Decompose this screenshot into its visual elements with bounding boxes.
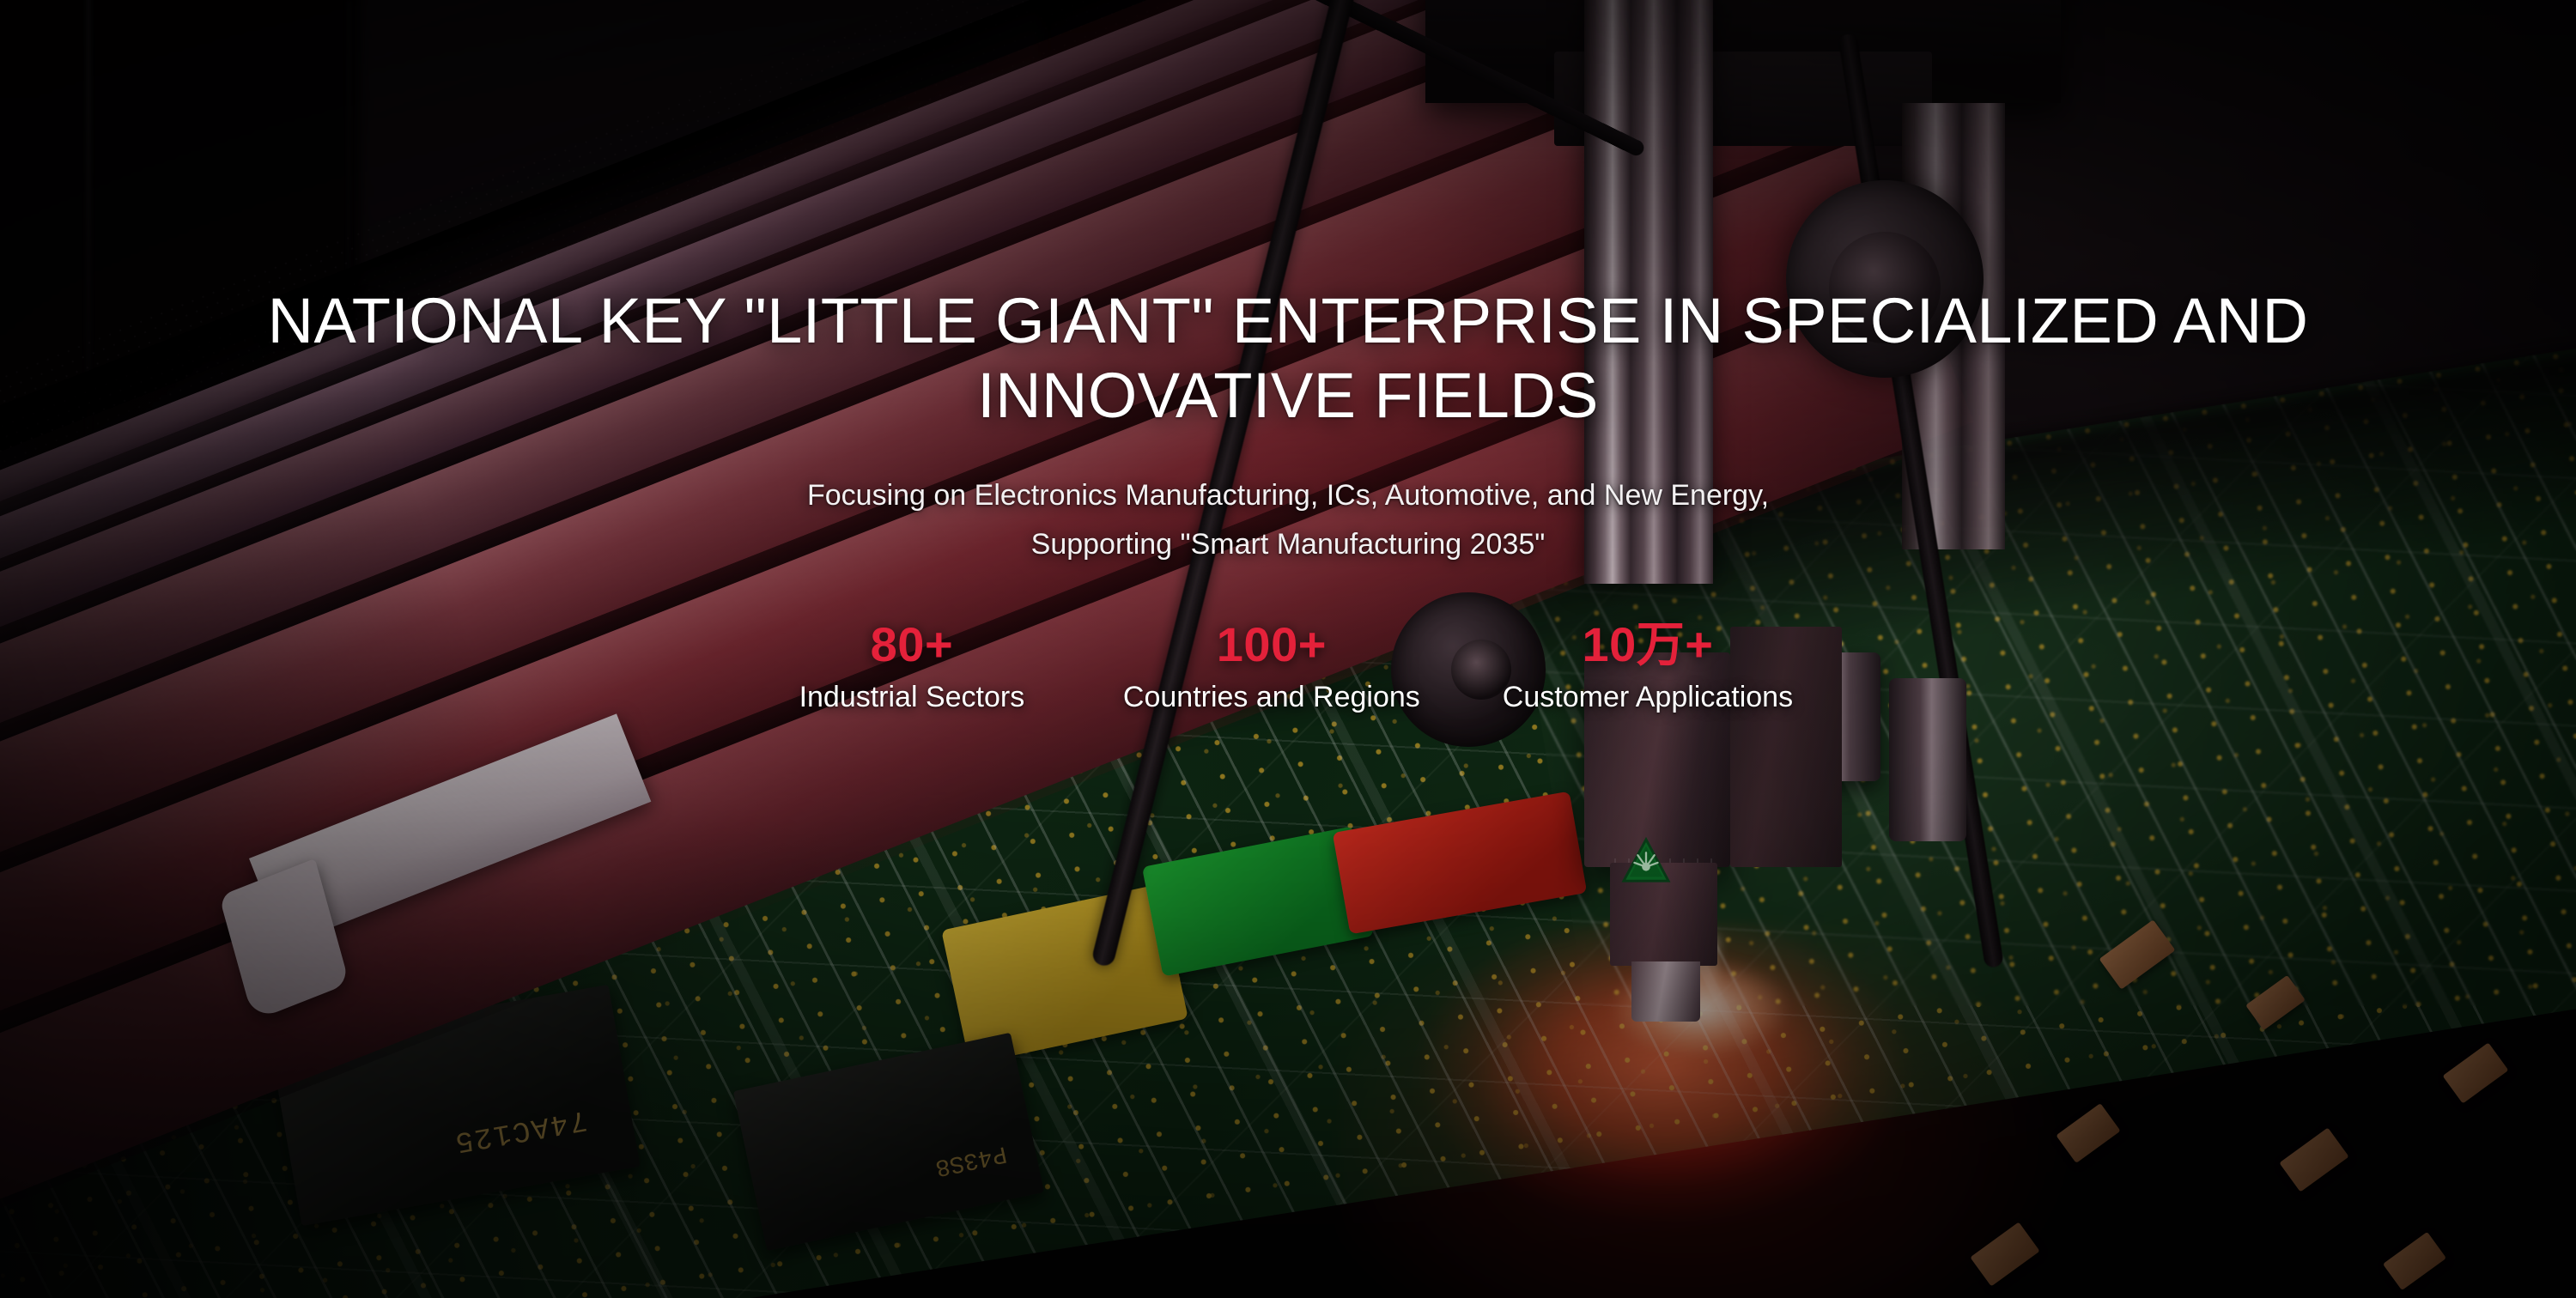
- stat-item-countries-and-regions: 100+ Countries and Regions: [1123, 619, 1420, 714]
- stats-row: 80+ Industrial Sectors 100+ Countries an…: [783, 569, 1793, 714]
- hero-subtitle: Focusing on Electronics Manufacturing, I…: [807, 434, 1769, 569]
- hero-banner: 74AC125 P43S8: [0, 0, 2576, 1298]
- stat-label: Countries and Regions: [1123, 670, 1420, 714]
- hero-content: NATIONAL KEY "LITTLE GIANT" ENTERPRISE I…: [0, 0, 2576, 1298]
- stat-item-customer-applications: 10万+ Customer Applications: [1503, 619, 1793, 714]
- page-title: NATIONAL KEY "LITTLE GIANT" ENTERPRISE I…: [155, 283, 2421, 434]
- stat-value: 100+: [1217, 619, 1327, 670]
- hero-subtitle-line-2: Supporting "Smart Manufacturing 2035": [1031, 528, 1546, 561]
- stat-value: 10万+: [1582, 619, 1713, 670]
- hero-subtitle-line-1: Focusing on Electronics Manufacturing, I…: [807, 479, 1769, 512]
- stat-label: Industrial Sectors: [799, 670, 1025, 714]
- stat-item-industrial-sectors: 80+ Industrial Sectors: [783, 619, 1041, 714]
- stat-label: Customer Applications: [1503, 670, 1793, 714]
- stat-value: 80+: [871, 619, 954, 670]
